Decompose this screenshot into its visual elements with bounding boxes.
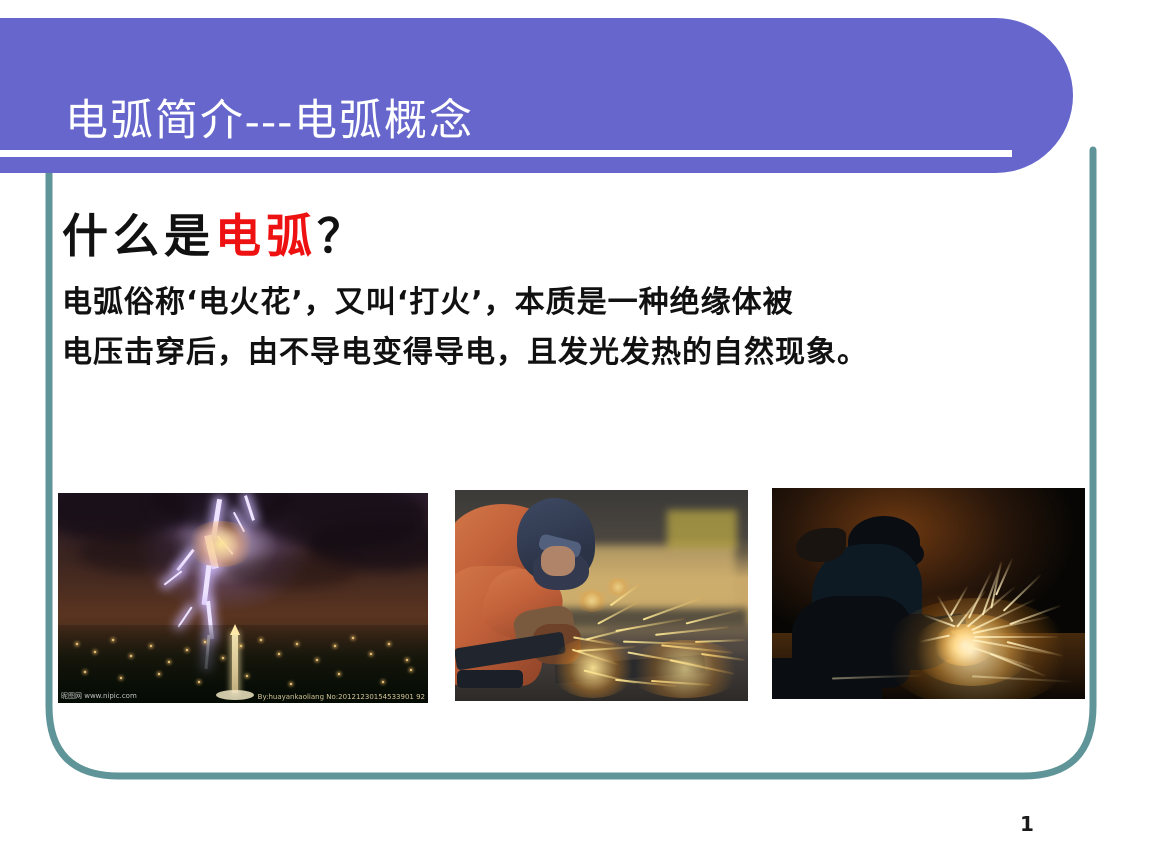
page-number: 1 (1020, 812, 1034, 836)
heading-highlight: 电弧 (215, 209, 317, 263)
banner-rule (0, 150, 1012, 157)
paragraph-line-1: 电弧俗称‘电火花’，又叫‘打火’，本质是一种绝缘体被 (62, 278, 1082, 328)
heading-prefix: 什么是 (62, 209, 215, 263)
photo-watermark-left: 昵图网 www.nipic.com (61, 691, 137, 701)
title-banner: 电弧简介---电弧概念 (0, 18, 1073, 173)
body-paragraph: 电弧俗称‘电火花’，又叫‘打火’，本质是一种绝缘体被 电压击穿后，由不导电变得导… (62, 278, 1082, 378)
slide-canvas: 电弧简介---电弧概念 什么是电弧？ 电弧俗称‘电火花’，又叫‘打火’，本质是一… (0, 0, 1152, 864)
heading-suffix: ？ (317, 209, 368, 263)
photo-lightning-over-city: 昵图网 www.nipic.com By:huayankaoliang No:2… (58, 493, 428, 703)
section-heading: 什么是电弧？ (62, 200, 368, 266)
paragraph-line-2: 电压击穿后，由不导电变得导电，且发光发热的自然现象。 (62, 328, 1082, 378)
photo-watermark-right: By:huayankaoliang No:20121230154533901 9… (258, 693, 425, 701)
photo-welder-with-sparks (772, 488, 1085, 699)
page-title: 电弧简介---电弧概念 (65, 86, 474, 148)
photo-worker-grinding-metal (455, 490, 748, 701)
